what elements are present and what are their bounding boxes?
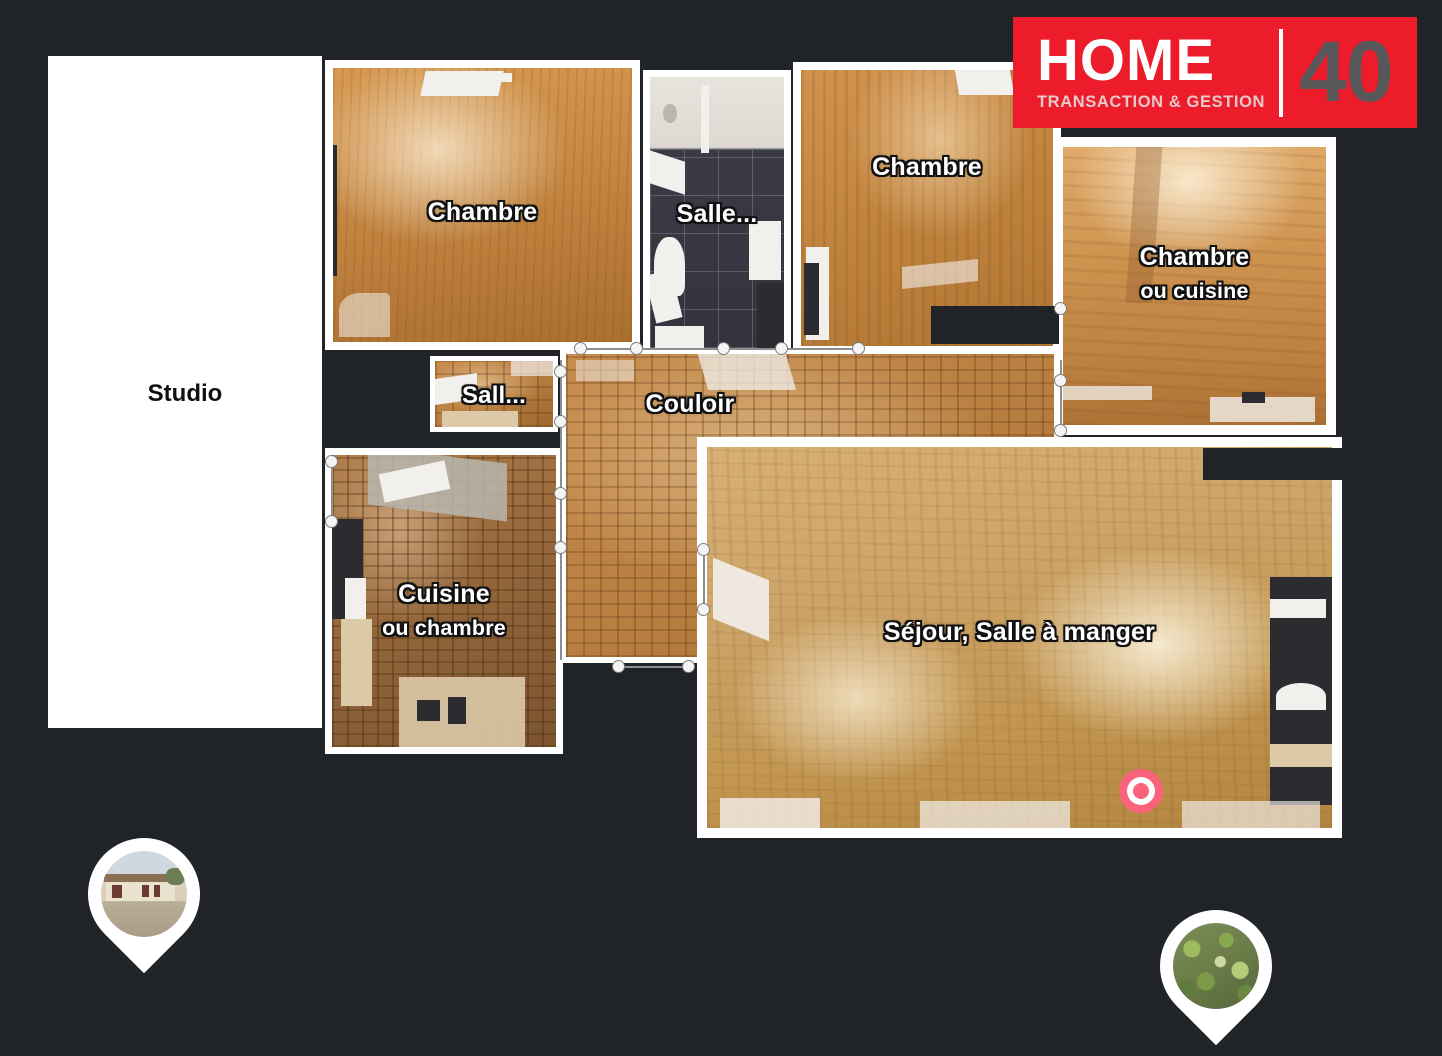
- brand-number: 40: [1299, 34, 1393, 111]
- room-salle-eau[interactable]: [430, 356, 558, 432]
- room-chambre-3[interactable]: [1053, 137, 1336, 435]
- wall-handle-icon-9[interactable]: [554, 415, 567, 428]
- wall-handle-icon-4[interactable]: [775, 342, 788, 355]
- brand-logo-divider: [1279, 29, 1283, 117]
- wall-handle-icon-8[interactable]: [554, 365, 567, 378]
- wall-handle-icon-1[interactable]: [574, 342, 587, 355]
- wall-handle-icon-5[interactable]: [852, 342, 865, 355]
- pin-thumbnail-exterior: [101, 851, 187, 937]
- wall-handle-icon-17[interactable]: [697, 603, 710, 616]
- wall-handle-icon-2[interactable]: [630, 342, 643, 355]
- room-sejour[interactable]: [697, 437, 1342, 838]
- plan-gap-chambre-2: [931, 306, 1059, 344]
- target-ring-inner: [1127, 777, 1155, 805]
- target-center-dot: [1133, 783, 1149, 799]
- brand-tagline: TRANSACTION & GESTION: [1037, 93, 1265, 112]
- room-photo-salle-eau: [435, 361, 553, 427]
- wall-handle-icon-11[interactable]: [554, 541, 567, 554]
- wall-segment-couloir-bottom[interactable]: [620, 666, 688, 668]
- wall-segment-left-vertical[interactable]: [560, 360, 562, 660]
- pin-thumbnail-garden: [1173, 923, 1259, 1009]
- room-photo-salle-bain: [650, 77, 784, 348]
- map-pin-icon-exterior[interactable]: [88, 838, 200, 984]
- wall-handle-icon-7[interactable]: [1054, 424, 1067, 437]
- target-reticle-icon[interactable]: [1119, 769, 1163, 813]
- plan-gap-sejour-top: [1203, 448, 1342, 480]
- wall-handle-icon-3[interactable]: [717, 342, 730, 355]
- room-cuisine[interactable]: [325, 448, 563, 754]
- map-pin-icon-garden[interactable]: [1160, 910, 1272, 1056]
- wall-handle-icon-10[interactable]: [554, 487, 567, 500]
- room-label-studio: Studio: [48, 380, 322, 408]
- brand-name: HOME: [1037, 33, 1265, 88]
- wall-handle-icon-12[interactable]: [325, 455, 338, 468]
- wall-handle-icon-18[interactable]: [1054, 302, 1067, 315]
- plan-gap-salle-eau: [326, 362, 416, 430]
- room-chambre-1[interactable]: [325, 60, 640, 350]
- floorplan-viewer[interactable]: Studio Chambre Salle...: [0, 0, 1442, 1056]
- wall-handle-icon-15[interactable]: [682, 660, 695, 673]
- wall-handle-icon-6[interactable]: [1054, 374, 1067, 387]
- room-photo-chambre-1: [333, 68, 632, 342]
- wall-segment-cuisine-left[interactable]: [331, 462, 333, 520]
- brand-logo[interactable]: HOME TRANSACTION & GESTION 40: [1013, 17, 1417, 128]
- wall-handle-icon-16[interactable]: [697, 543, 710, 556]
- room-photo-sejour: [707, 447, 1332, 828]
- wall-segment-sejour-left[interactable]: [703, 550, 705, 610]
- brand-logo-left: HOME TRANSACTION & GESTION: [1013, 33, 1265, 111]
- wall-segment-right-vertical[interactable]: [1060, 360, 1062, 432]
- room-photo-cuisine: [332, 455, 556, 747]
- room-salle-bain[interactable]: [643, 70, 791, 355]
- wall-handle-icon-13[interactable]: [325, 515, 338, 528]
- room-photo-chambre-3: [1063, 147, 1326, 425]
- wall-handle-icon-14[interactable]: [612, 660, 625, 673]
